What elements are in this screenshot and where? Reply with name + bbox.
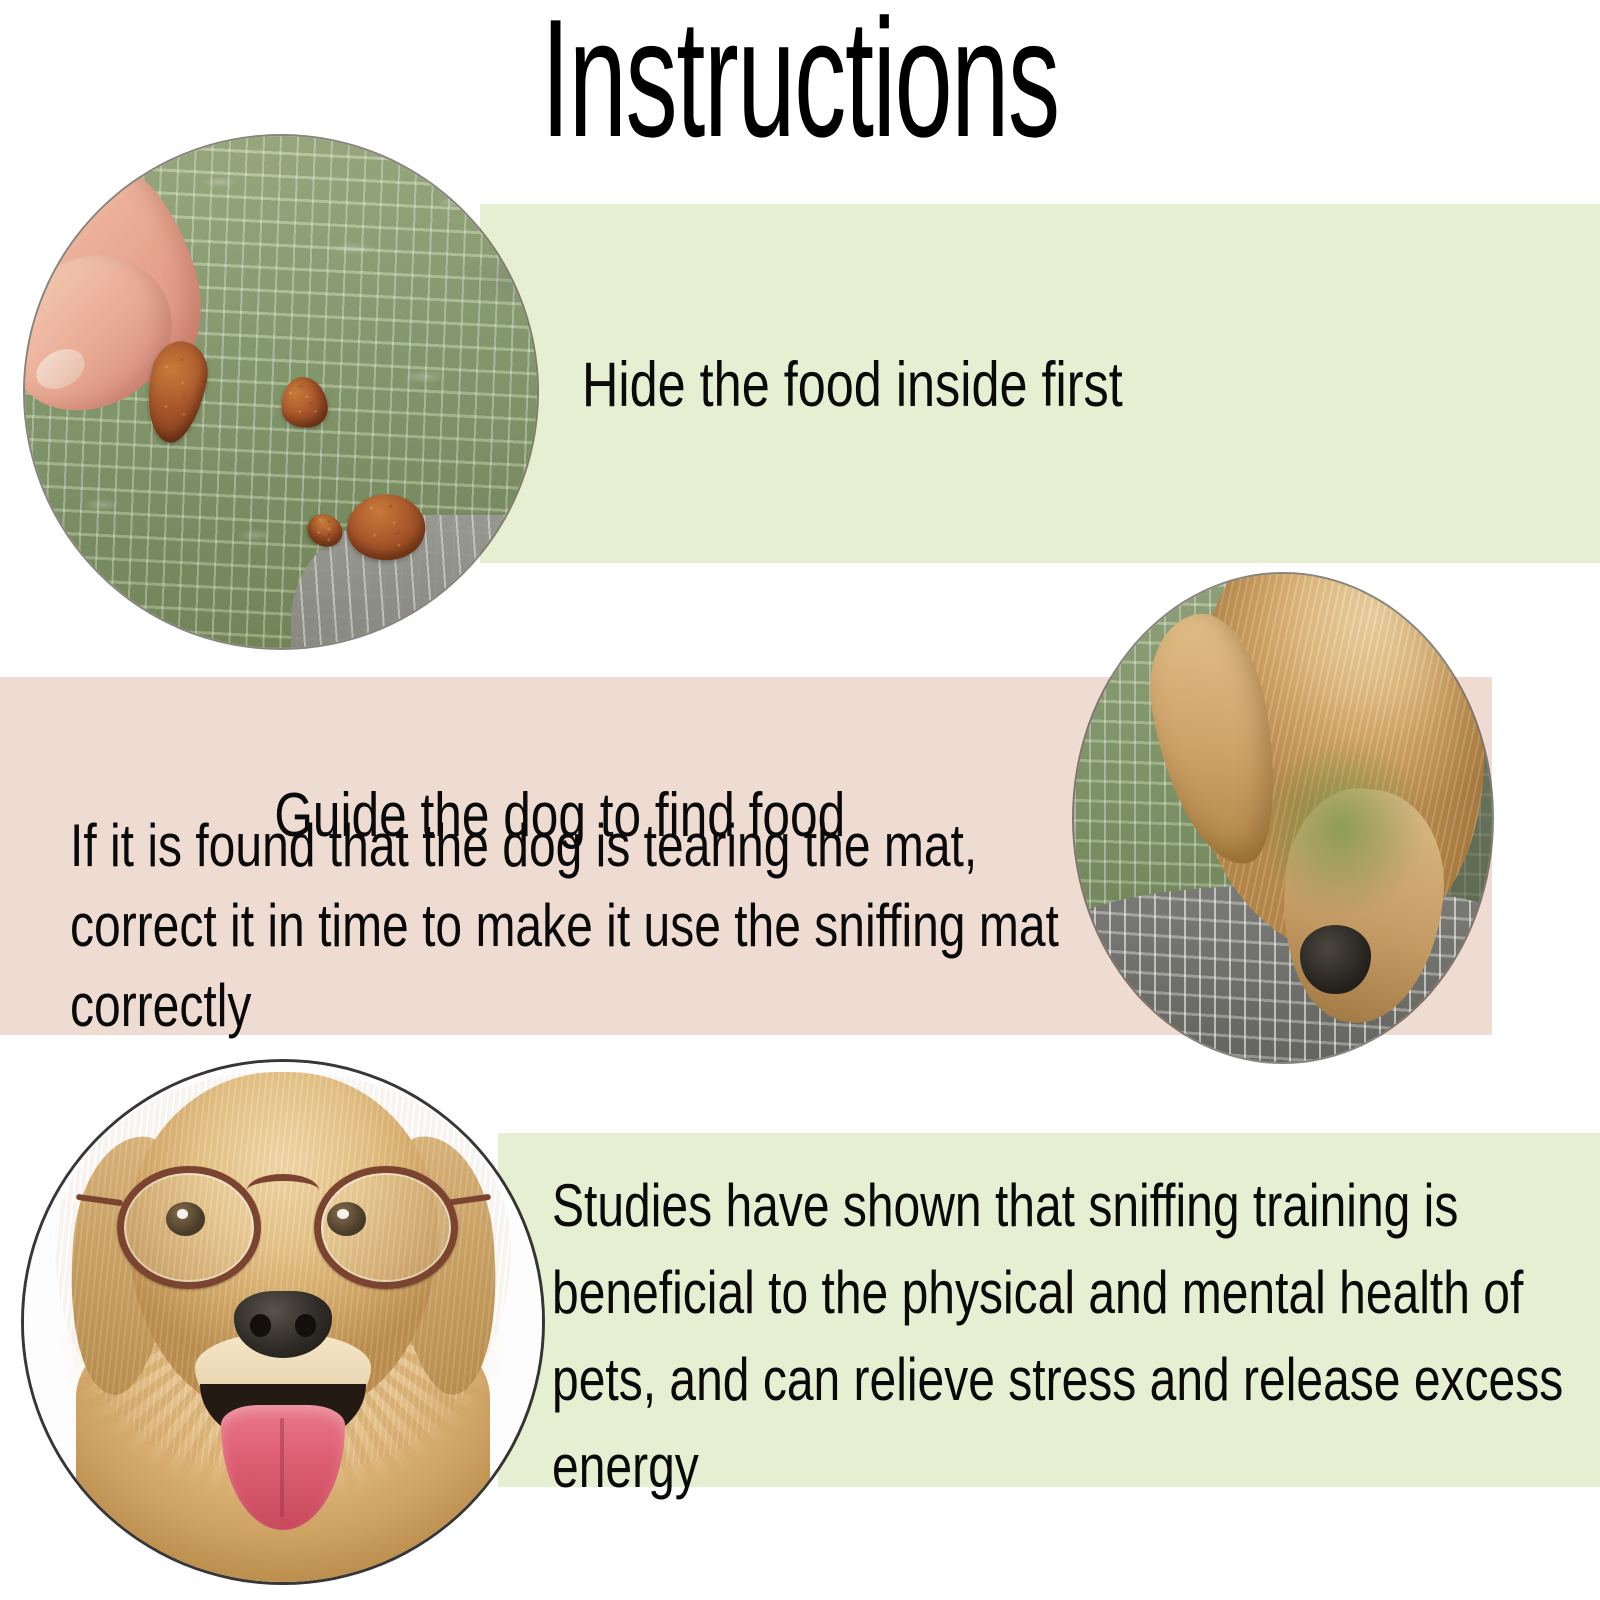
nostril-left (250, 1314, 272, 1337)
nostril-right (295, 1314, 317, 1337)
glasses-bridge (247, 1174, 320, 1207)
step-3-body: Studies have shown that sniffing trainin… (552, 1162, 1600, 1510)
glasses-lens-left (117, 1166, 261, 1289)
snuffle-mat-photo (25, 136, 537, 648)
step-2-body: If it is found that the dog is tearing t… (70, 806, 1078, 1045)
dog-nose (1300, 925, 1371, 993)
step-3-image (24, 1062, 542, 1582)
dog-with-glasses-photo (24, 1062, 542, 1582)
mat-green-reflection (1258, 740, 1425, 916)
step-1-image (25, 136, 537, 648)
glasses-lens-right (314, 1166, 458, 1289)
infographic-page: Instructions Hide the food inside first … (0, 0, 1600, 1600)
dog-sniffing-photo (1074, 574, 1492, 1062)
step-1-text: Hide the food inside first (582, 352, 1350, 418)
step-2-image (1074, 574, 1492, 1062)
